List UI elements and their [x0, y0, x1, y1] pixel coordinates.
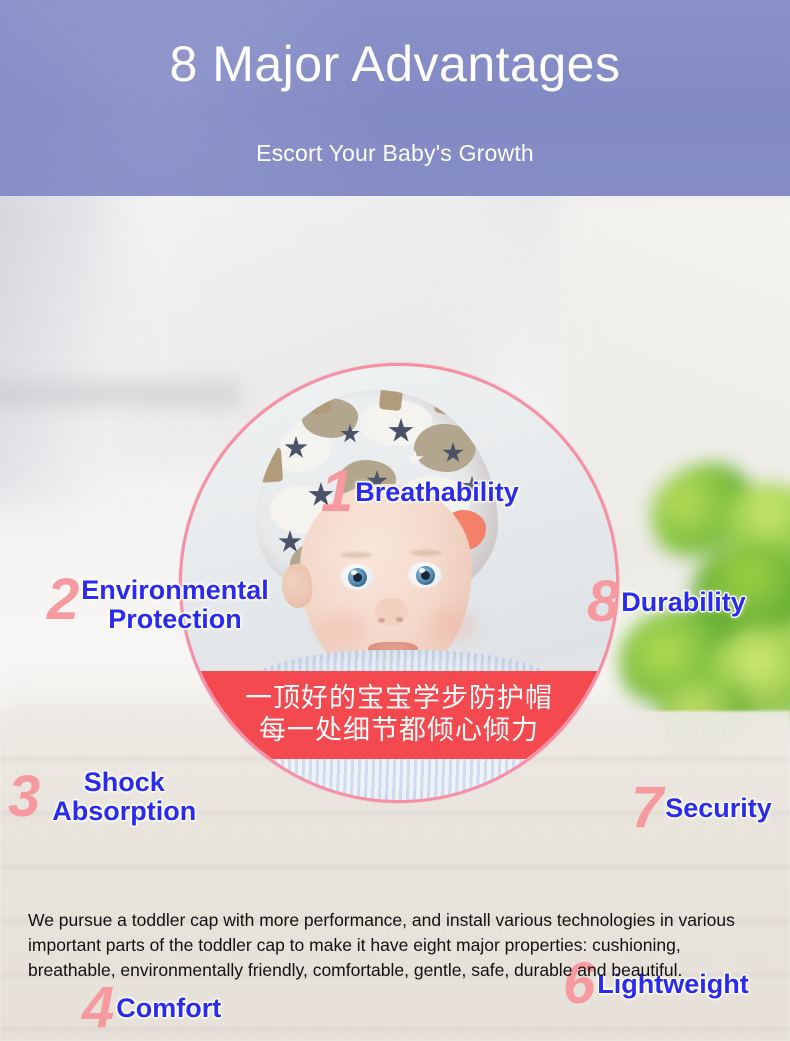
advantage-label-2-line1: Environmental: [81, 575, 269, 605]
advantage-label-3: Shock Absorption: [52, 768, 196, 826]
advantage-label-1: Breathability: [355, 478, 519, 507]
chinese-slogan-banner: 一顶好的宝宝学步防护帽 每一处细节都倾心倾力: [182, 671, 616, 759]
page-title: 8 Major Advantages: [0, 38, 790, 91]
advantage-item-7: 7 Security: [631, 782, 772, 834]
advantage-item-4: 4 Comfort: [82, 982, 221, 1034]
advantage-label-8: Durability: [621, 588, 746, 617]
advantage-label-7: Security: [665, 794, 772, 823]
advantage-item-2: 2 Environmental Protection: [47, 576, 269, 634]
header-banner: 8 Major Advantages Escort Your Baby's Gr…: [0, 0, 790, 196]
advantage-item-3: 3 Shock Absorption: [8, 768, 196, 826]
advantage-number-3: 3: [8, 771, 40, 823]
advantage-number-7: 7: [631, 782, 663, 834]
eye-right: [408, 562, 442, 588]
advantage-label-2: Environmental Protection: [81, 576, 269, 634]
page-subtitle: Escort Your Baby's Growth: [0, 140, 790, 167]
advantage-label-2-line2: Protection: [108, 604, 242, 634]
advantage-item-1: 1 Breathability: [321, 466, 519, 518]
advantage-label-4: Comfort: [116, 994, 221, 1023]
eye-left: [340, 564, 374, 590]
description-paragraph: We pursue a toddler cap with more perfor…: [28, 908, 773, 983]
advantage-number-8: 8: [587, 576, 619, 628]
advantage-number-2: 2: [47, 574, 79, 626]
advantages-infographic: 8 Major Advantages Escort Your Baby's Gr…: [0, 0, 790, 1041]
advantage-item-8: 8 Durability: [587, 576, 746, 628]
advantage-number-4: 4: [82, 982, 114, 1034]
advantage-label-3-line2: Absorption: [52, 796, 196, 826]
slogan-line-1: 一顶好的宝宝学步防护帽: [245, 683, 553, 715]
advantage-label-3-line1: Shock: [84, 767, 165, 797]
slogan-line-2: 每一处细节都倾心倾力: [259, 715, 539, 747]
advantage-number-1: 1: [321, 466, 353, 518]
